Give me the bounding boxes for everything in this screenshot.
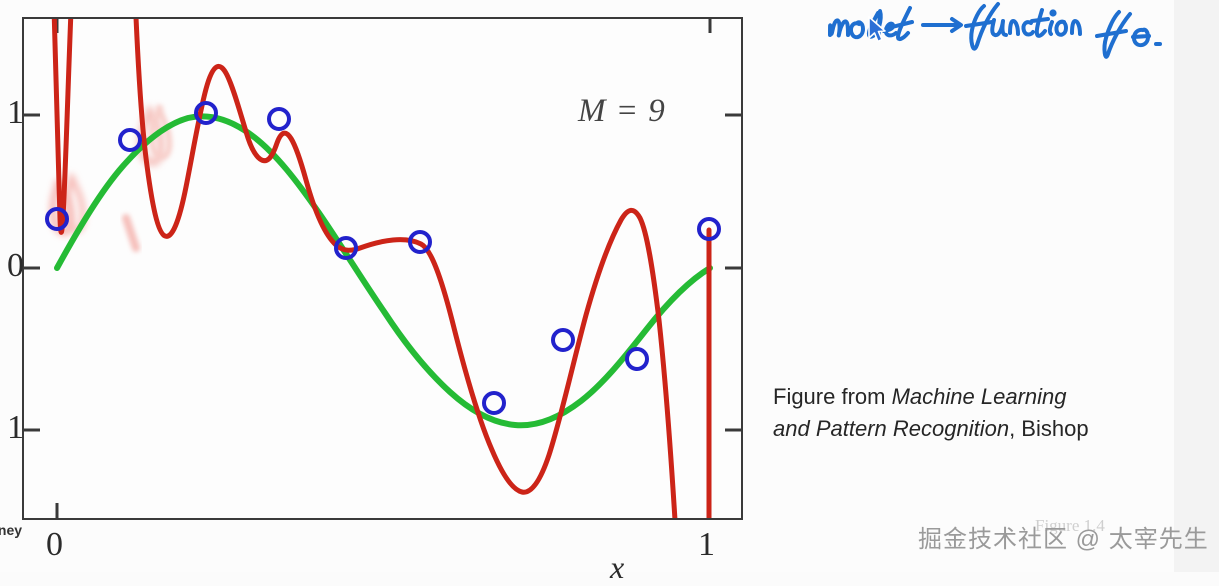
ink-dot-i	[1051, 11, 1054, 14]
ink-stroke-o	[851, 22, 863, 37]
ink-stroke-f-cross	[966, 22, 992, 26]
ink-stroke-theta-bar	[1133, 36, 1149, 37]
y-tick-label-0: 0	[0, 247, 24, 285]
ink-stroke-o2	[1056, 22, 1066, 35]
ink-stroke-u	[992, 20, 1006, 35]
data-point	[553, 330, 573, 350]
ink-stroke-t	[1037, 10, 1045, 36]
handwritten-annotation	[760, 0, 1219, 100]
ink-stroke-m	[830, 20, 848, 35]
y-tick-label-1: 1	[0, 94, 24, 132]
polynomial-fit-curve-2	[133, 0, 681, 572]
y-axis-ticks-right	[725, 115, 741, 430]
clipped-corner-text: lney	[0, 522, 22, 538]
x-axis-ticks-top	[57, 19, 710, 33]
bishop-figure-plot: 1 0 1 0 1 x M = 9 lney	[0, 0, 760, 572]
ink-stroke-f-theta-cross	[1097, 31, 1126, 36]
model-order-annotation: M = 9	[578, 93, 666, 130]
caption-title-part1: Machine Learning	[892, 384, 1067, 409]
data-point	[269, 109, 289, 129]
x-tick-label-1: 1	[698, 526, 715, 564]
x-tick-label-0: 0	[46, 526, 63, 564]
data-point	[627, 349, 647, 369]
x-axis-label: x	[610, 549, 624, 586]
ink-stroke-n2	[1072, 21, 1080, 34]
y-axis-ticks	[24, 115, 40, 430]
figure-source-caption: Figure from Machine Learning and Pattern…	[773, 381, 1173, 445]
caption-prefix: Figure from	[773, 384, 892, 409]
data-point	[484, 393, 504, 413]
ink-stroke-t-cross	[1032, 19, 1048, 21]
arrow-cursor	[868, 16, 890, 46]
ink-stroke-i	[1050, 22, 1052, 34]
ink-stroke-n	[1010, 21, 1018, 34]
watermark-text: 掘金技术社区 @ 太宰先生	[918, 519, 1209, 554]
ink-stroke-c	[1023, 22, 1033, 34]
slide-canvas: 1 0 1 0 1 x M = 9 lney Figure from Machi…	[0, 0, 1219, 572]
x-axis-ticks	[57, 503, 710, 518]
caption-author: , Bishop	[1009, 416, 1089, 441]
plot-graphics	[0, 0, 760, 572]
y-tick-label-m1: 1	[0, 409, 24, 447]
data-point	[120, 130, 140, 150]
caption-title-part2: and Pattern Recognition	[773, 416, 1009, 441]
